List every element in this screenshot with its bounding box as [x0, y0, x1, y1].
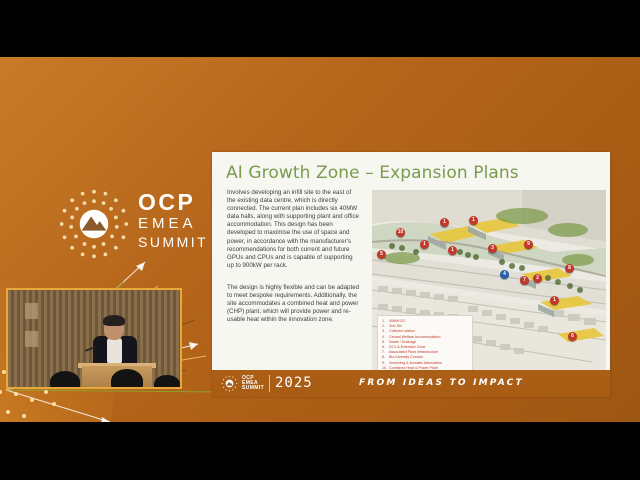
plan-marker[interactable]: 1: [448, 246, 457, 255]
speaker-video-inset[interactable]: [6, 288, 182, 389]
slide-paragraph-1: Involves developing an infill site to th…: [227, 189, 361, 270]
broadcast-frame: OCP EMEA SUMMIT AI Growth Zone – Expansi…: [0, 57, 640, 422]
footer-divider: [269, 375, 270, 392]
legend-label: 40MW DC: [389, 319, 406, 323]
slide-title: AI Growth Zone – Expansion Plans: [226, 163, 519, 183]
plan-marker[interactable]: 1: [469, 216, 478, 225]
audience-head: [154, 375, 180, 389]
legend-label: Collector station: [389, 329, 415, 333]
legend-label: Screening & Acoustic Attenuation: [389, 361, 442, 365]
presentation-slide: AI Growth Zone – Expansion Plans Involve…: [212, 152, 610, 397]
plan-marker[interactable]: 1: [420, 240, 429, 249]
audience-head: [111, 369, 143, 389]
footer-ocp-sunburst-icon: [221, 375, 238, 392]
legend-label: DC1 & Extension Zone: [389, 345, 426, 349]
plan-marker[interactable]: 4: [500, 270, 509, 279]
legend-label: Bio-Diversity Corridor: [389, 355, 423, 359]
logo-line-summit: SUMMIT: [138, 233, 208, 251]
speaker-hair: [103, 315, 125, 326]
speaker-shirt: [107, 338, 122, 364]
letterbox-bottom: [0, 422, 640, 480]
legend-label: Central Welfare Accommodation: [389, 335, 440, 339]
plan-marker[interactable]: 7: [520, 276, 529, 285]
plan-legend: 1.40MW DC 2.Sub-Stn 3.Collector station …: [377, 315, 473, 370]
footer-tagline: FROM IDEAS TO IMPACT: [359, 378, 524, 388]
footer-year: 2025: [275, 375, 313, 392]
plan-marker[interactable]: 3: [488, 244, 497, 253]
footer-logo-wordmark: OCP EMEA SUMMIT: [242, 376, 264, 392]
aerial-site-plan-image: 10 1 1 1 5 1 3 9 4 7 2 8 1 6 1.40MW DC 2…: [372, 190, 606, 370]
legend-label: Associated Plant Infrastructure: [389, 350, 438, 354]
legend-label: Swale / Drainage: [389, 340, 416, 344]
plan-marker[interactable]: 1: [550, 296, 559, 305]
legend-label: Sub-Stn: [389, 324, 402, 328]
plan-marker[interactable]: 8: [565, 264, 574, 273]
footer-logo-line-summit: SUMMIT: [242, 386, 264, 391]
wall-panel: [25, 331, 38, 347]
plan-marker[interactable]: 6: [568, 332, 577, 341]
wall-panel: [25, 303, 38, 319]
letterbox-top: [0, 0, 640, 57]
ocp-sunburst-mountain-icon: [56, 186, 132, 262]
logo-line-emea: EMEA: [138, 214, 208, 233]
logo-wordmark: OCP EMEA SUMMIT: [138, 190, 208, 251]
logo-line-ocp: OCP: [138, 190, 208, 214]
slide-footer-bar: OCP EMEA SUMMIT 2025 FROM IDEAS TO IMPAC…: [212, 370, 610, 397]
audience-head: [50, 371, 80, 389]
plan-marker[interactable]: 1: [440, 218, 449, 227]
ocp-emea-summit-logo: OCP EMEA SUMMIT: [56, 184, 206, 266]
plan-marker[interactable]: 9: [524, 240, 533, 249]
video-player-stage: OCP EMEA SUMMIT AI Growth Zone – Expansi…: [0, 0, 640, 480]
plan-marker[interactable]: 10: [396, 228, 405, 237]
slide-paragraph-2: The design is highly flexible and can be…: [227, 284, 361, 324]
plan-marker[interactable]: 5: [377, 250, 386, 259]
plan-marker[interactable]: 2: [533, 274, 542, 283]
